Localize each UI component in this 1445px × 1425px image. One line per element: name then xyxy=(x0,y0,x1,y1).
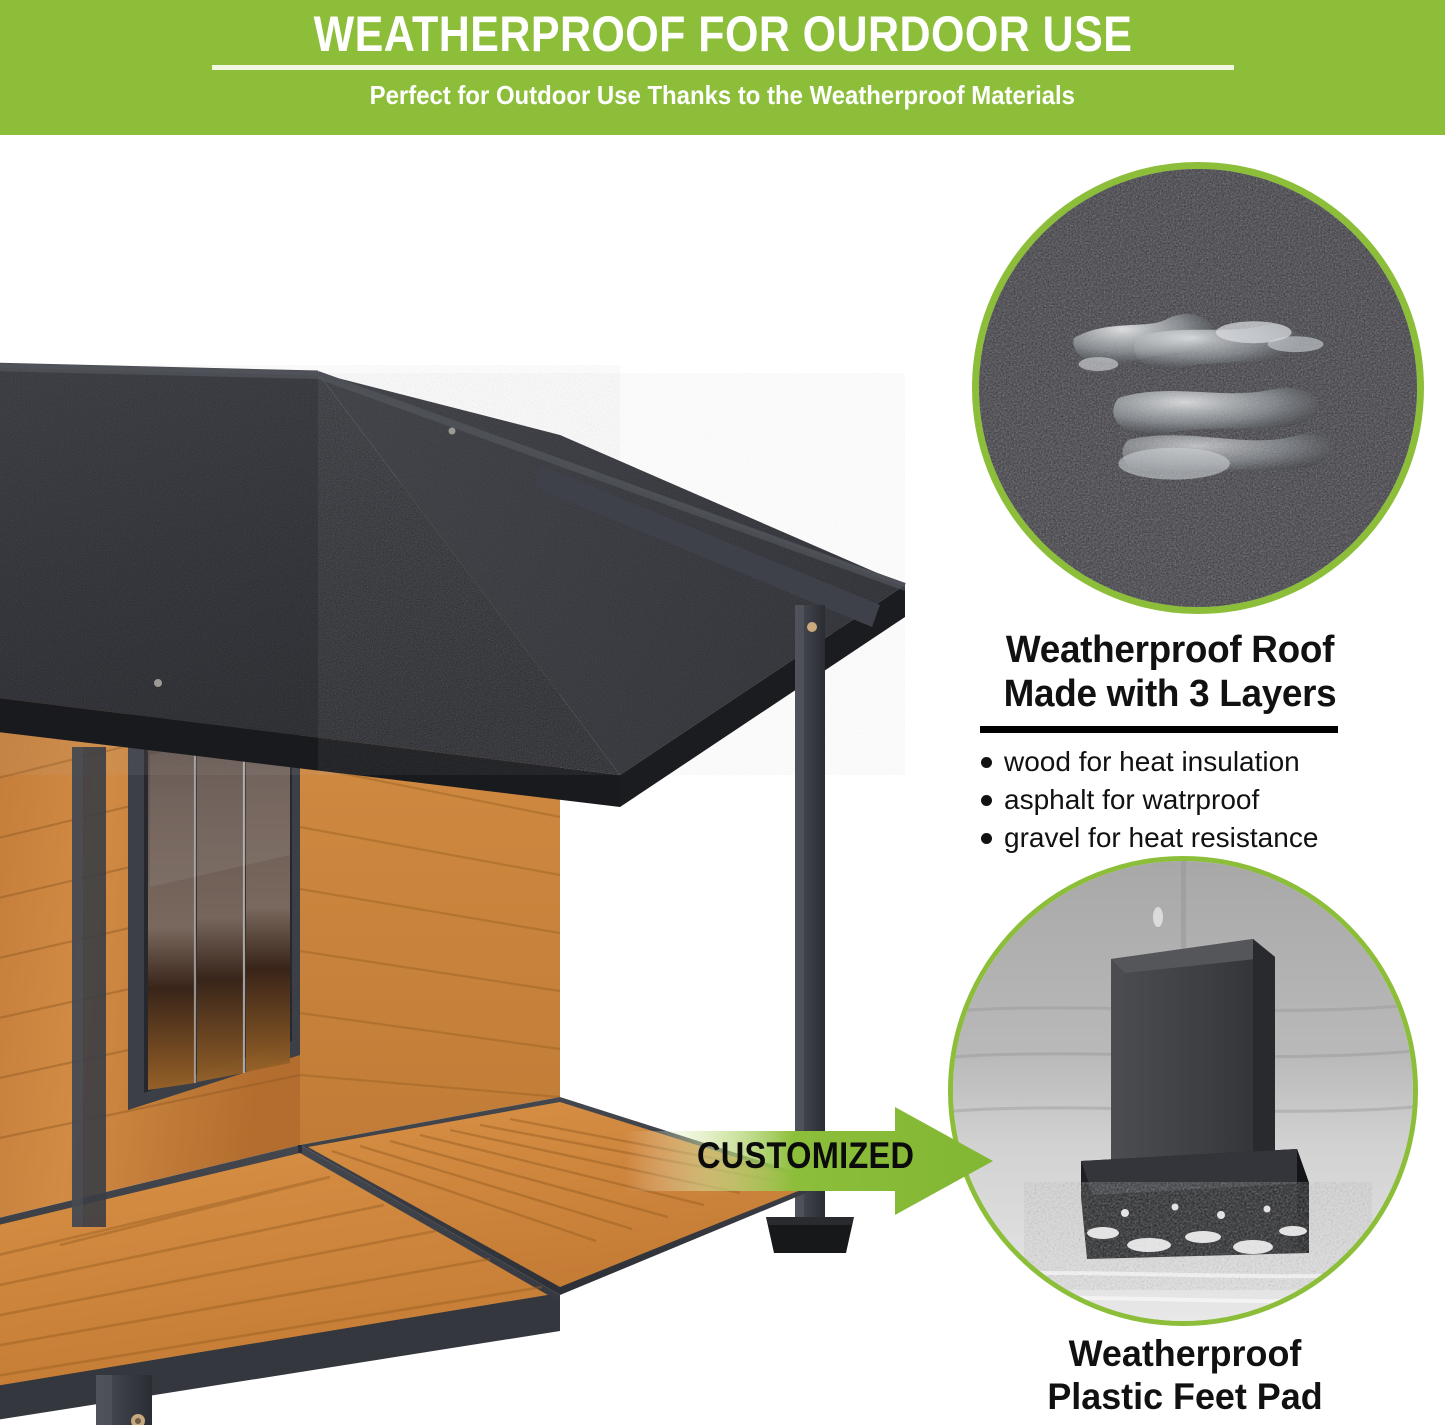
bullet-label: gravel for heat resistance xyxy=(1004,822,1318,853)
bullet-label: asphalt for watrproof xyxy=(1004,784,1259,815)
weatherproof-roof-text-block: Weatherproof Roof Made with 3 Layers woo… xyxy=(960,628,1380,857)
banner-title: WEATHERPROOF FOR OURDOOR USE xyxy=(313,8,1132,61)
dog-house-illustration xyxy=(0,135,960,1425)
banner-divider xyxy=(212,65,1234,70)
bullet-label: wood for heat insulation xyxy=(1004,746,1300,777)
roof-heading-line2: Made with 3 Layers xyxy=(966,672,1373,716)
header-banner: WEATHERPROOF FOR OURDOOR USE Perfect for… xyxy=(0,0,1445,135)
list-item: asphalt for watrproof xyxy=(1004,781,1380,819)
list-item: wood for heat insulation xyxy=(1004,743,1380,781)
bullet-dot-icon xyxy=(981,833,992,844)
weatherproof-roof-inset-photo xyxy=(972,162,1424,614)
water-beading-on-asphalt-photo xyxy=(979,169,1417,607)
customized-callout: CUSTOMIZED xyxy=(625,1105,995,1217)
roof-heading-line1: Weatherproof Roof xyxy=(966,628,1373,672)
roof-heading-divider xyxy=(980,726,1338,733)
bullet-dot-icon xyxy=(981,757,992,768)
list-item: gravel for heat resistance xyxy=(1004,819,1380,857)
banner-subtitle: Perfect for Outdoor Use Thanks to the We… xyxy=(370,80,1075,111)
feet-caption-line2: Plastic Feet Pad xyxy=(957,1375,1413,1418)
dog-house-photo xyxy=(0,135,960,1425)
plastic-feet-pad-caption: Weatherproof Plastic Feet Pad xyxy=(957,1332,1413,1419)
roof-layer-bullet-list: wood for heat insulation asphalt for wat… xyxy=(960,743,1380,857)
bullet-dot-icon xyxy=(981,795,992,806)
feet-caption-line1: Weatherproof xyxy=(957,1332,1413,1375)
customized-label: CUSTOMIZED xyxy=(697,1135,914,1177)
plastic-feet-pad-in-water-photo xyxy=(953,861,1413,1321)
infographic-page: WEATHERPROOF FOR OURDOOR USE Perfect for… xyxy=(0,0,1445,1425)
plastic-feet-pad-inset-photo xyxy=(948,856,1418,1326)
